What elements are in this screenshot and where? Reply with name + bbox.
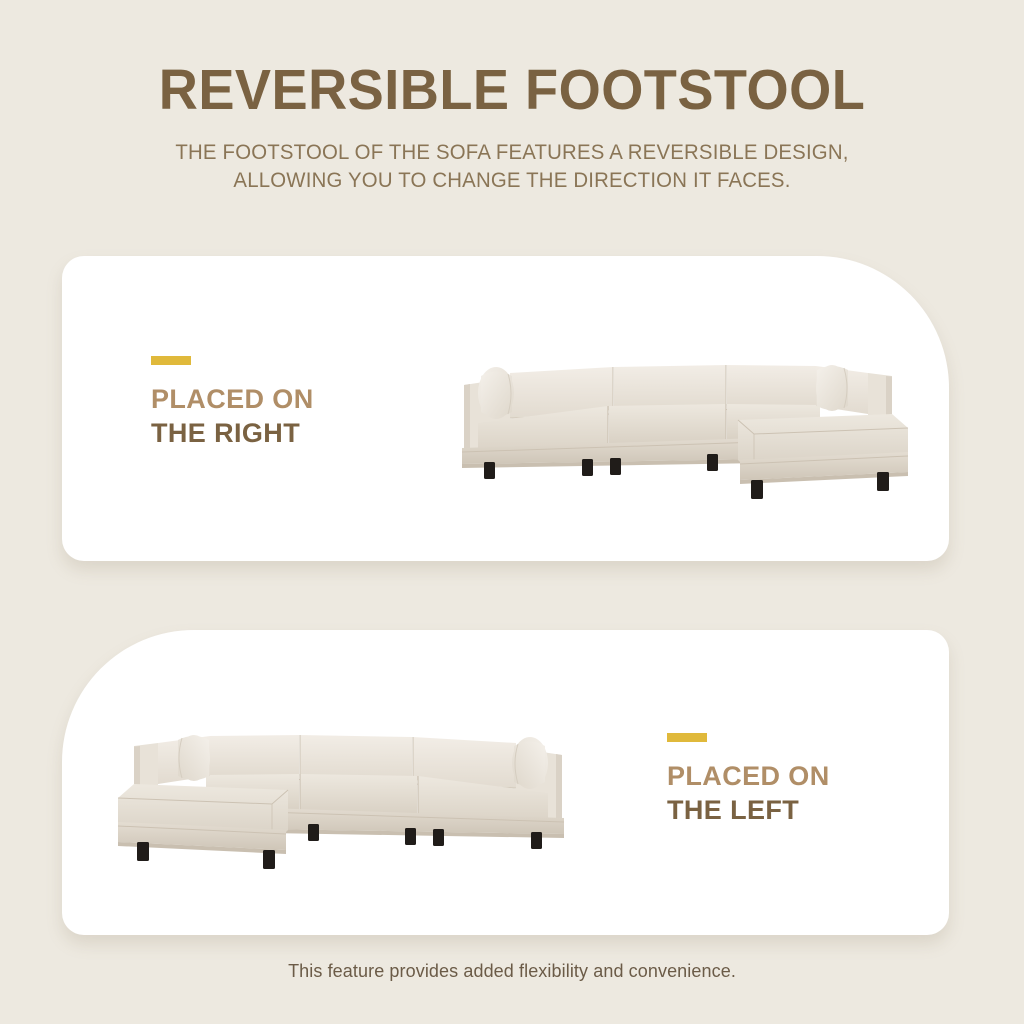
card-label-line-2: THE LEFT (667, 794, 830, 828)
footer-caption: This feature provides added flexibility … (0, 961, 1024, 982)
sofa-image-chaise-left (108, 718, 578, 878)
accent-bar-icon (151, 356, 191, 365)
accent-bar-icon (667, 733, 707, 742)
label-block-right: PLACED ON THE RIGHT (151, 356, 314, 451)
page-subtitle: THE FOOTSTOOL OF THE SOFA FEATURES A REV… (15, 139, 1008, 194)
page-subtitle-line-2: ALLOWING YOU TO CHANGE THE DIRECTION IT … (15, 167, 1008, 195)
card-label-line-2: THE RIGHT (151, 417, 314, 451)
label-block-left: PLACED ON THE LEFT (667, 733, 830, 828)
card-label-line-1: PLACED ON (151, 383, 314, 417)
page-subtitle-line-1: THE FOOTSTOOL OF THE SOFA FEATURES A REV… (15, 139, 1008, 167)
header-block: REVERSIBLE FOOTSTOOL THE FOOTSTOOL OF TH… (0, 0, 1024, 194)
card-label-line-1: PLACED ON (667, 760, 830, 794)
sofa-image-chaise-right (448, 348, 918, 508)
page-title: REVERSIBLE FOOTSTOOL (26, 62, 999, 119)
